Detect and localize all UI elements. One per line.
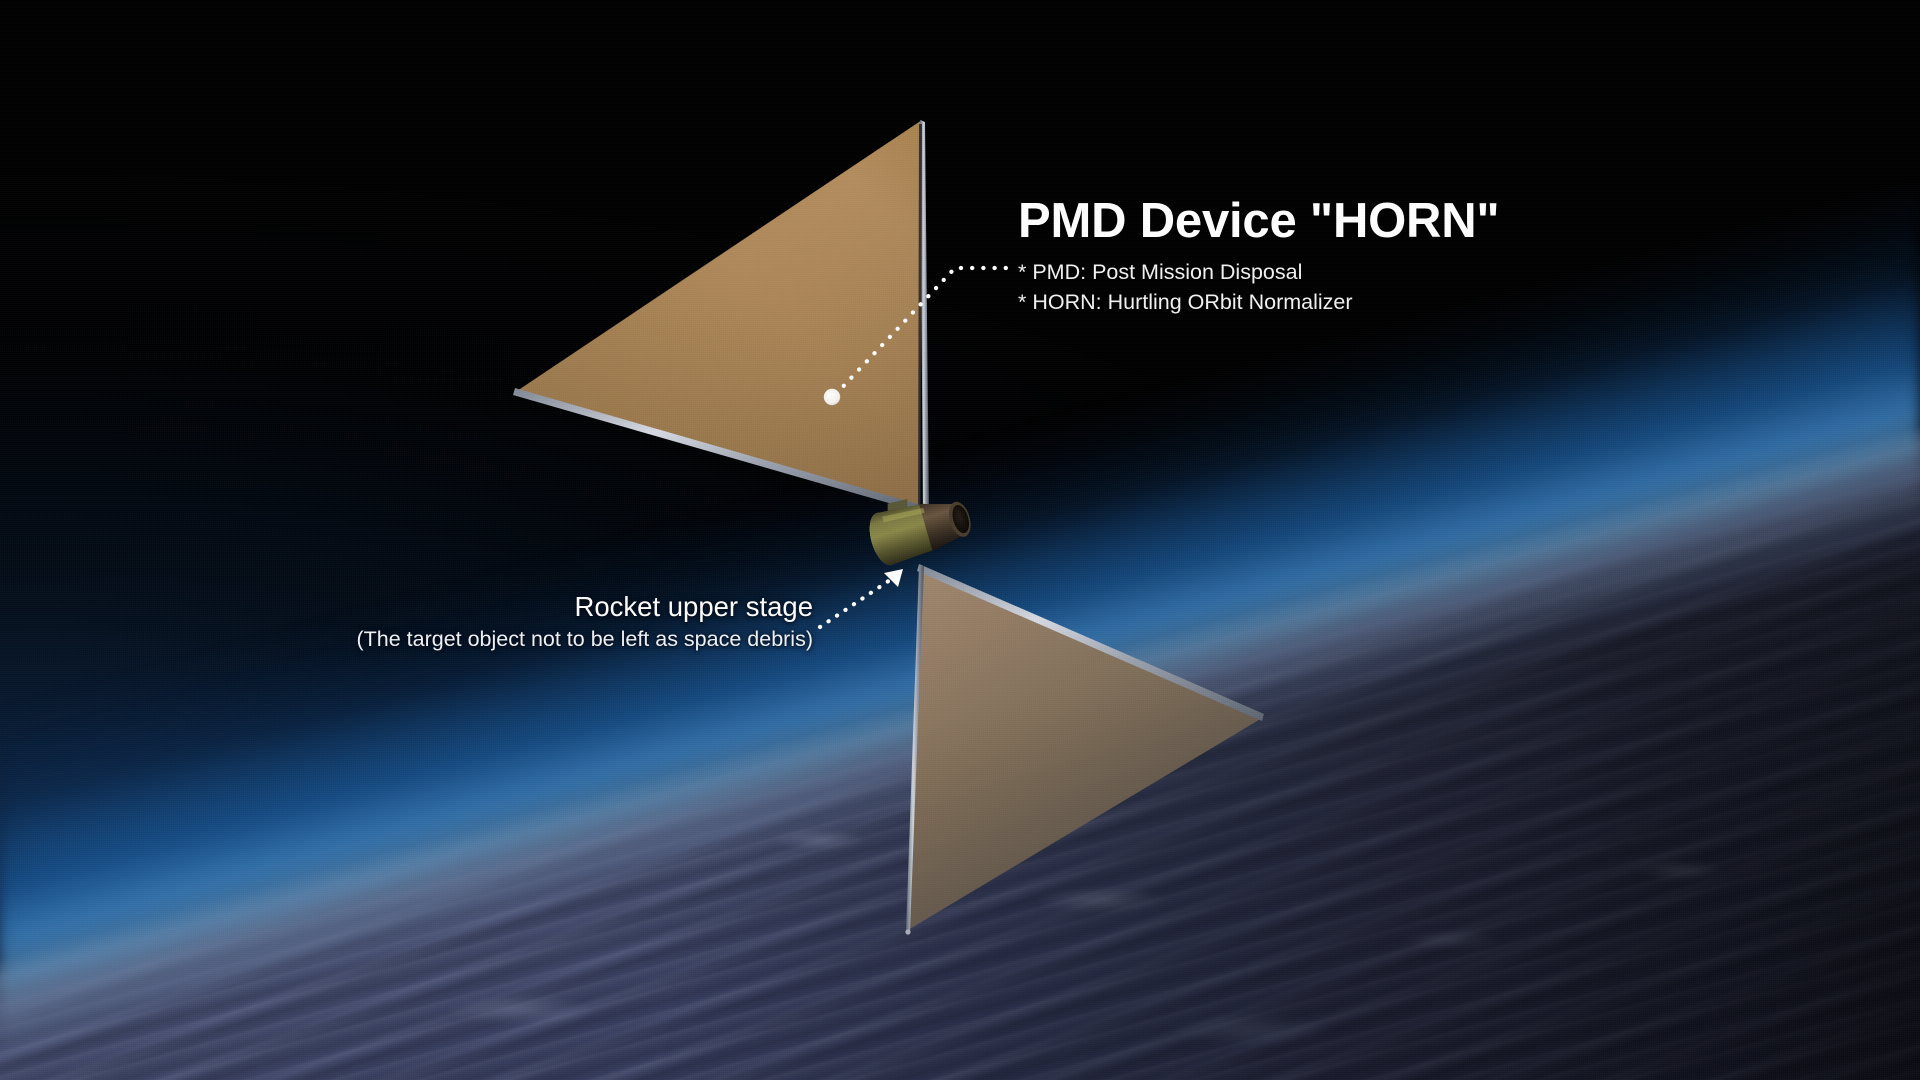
rocket-stage-label: Rocket upper stage [243,591,813,623]
earth-terminator-shading [0,0,1920,1080]
rocket-stage-label-block: Rocket upper stage (The target object no… [243,591,813,654]
scene-canvas: PMD Device "HORN" * PMD: Post Mission Di… [0,0,1920,1080]
rocket-stage-sublabel: (The target object not to be left as spa… [243,626,813,654]
note-pmd: * PMD: Post Mission Disposal [1018,258,1678,288]
page-title: PMD Device "HORN" [1018,197,1678,247]
acronym-notes: * PMD: Post Mission Disposal * HORN: Hur… [1018,258,1678,317]
horn-title-block: PMD Device "HORN" * PMD: Post Mission Di… [1018,197,1678,317]
note-horn: * HORN: Hurtling ORbit Normalizer [1018,288,1678,318]
